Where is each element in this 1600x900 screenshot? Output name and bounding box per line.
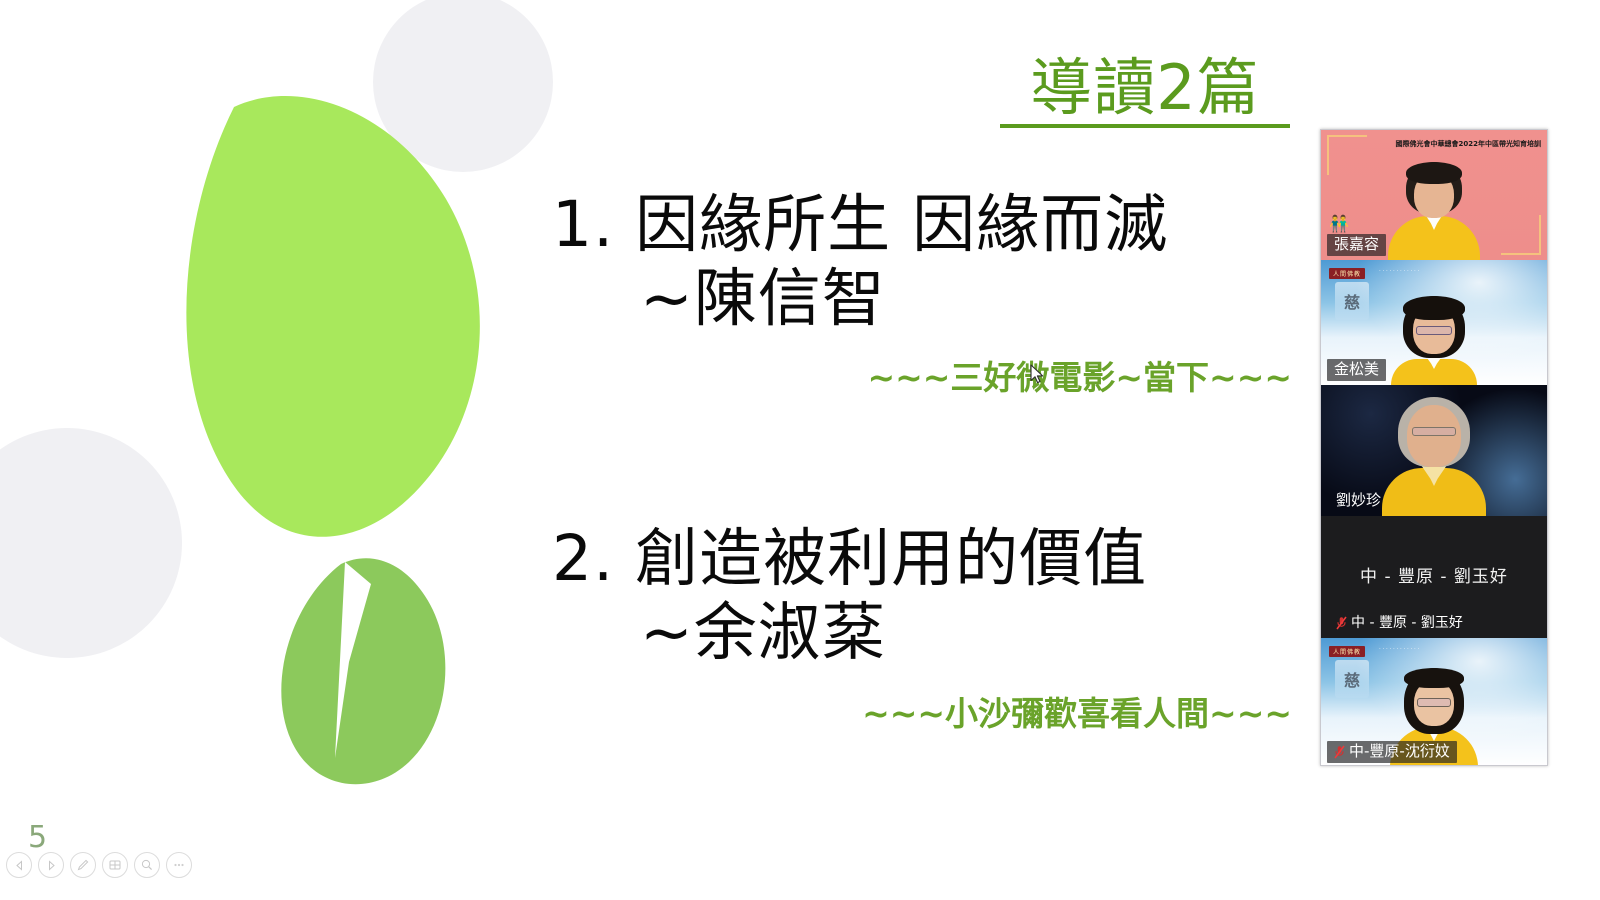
video-tile-camera-off[interactable]: 中 - 豐原 - 劉玉好 中 - 豐原 - 劉玉好 xyxy=(1321,516,1547,638)
participant-name: 中 - 豐原 - 劉玉好 xyxy=(1351,615,1463,633)
muted-microphone-icon xyxy=(1336,616,1347,630)
large-leaf-graphic xyxy=(170,95,500,545)
participant-name-label: 張嘉容 xyxy=(1327,234,1386,256)
previous-slide-button[interactable] xyxy=(6,852,32,878)
muted-microphone-icon xyxy=(1334,745,1345,759)
next-slide-button[interactable] xyxy=(38,852,64,878)
participant-name-label: 劉妙珍 xyxy=(1329,490,1388,512)
participant-name: 劉妙珍 xyxy=(1336,491,1381,510)
participant-name-label: 中 - 豐原 - 劉玉好 xyxy=(1329,614,1470,635)
zoom-magnifier-button[interactable] xyxy=(134,852,160,878)
item-author: ~陳信智 xyxy=(552,262,1292,336)
participant-name: 張嘉容 xyxy=(1334,235,1379,254)
small-leaf-graphic xyxy=(275,558,455,788)
item-title: 因緣所生 因緣而滅 xyxy=(635,188,1168,261)
participant-name-label: 金松美 xyxy=(1327,359,1386,381)
item-author: ~余淑棻 xyxy=(552,596,1292,670)
item-number: 2. xyxy=(552,522,614,595)
item-main-line: 2. 創造被利用的價值 xyxy=(552,522,1292,596)
arrow-cursor-icon xyxy=(1030,364,1046,391)
decorative-sticker-icon: 👬 xyxy=(1329,214,1349,234)
page-number: 5 xyxy=(28,820,47,855)
annotate-pen-button[interactable] xyxy=(70,852,96,878)
item-number: 1. xyxy=(552,188,614,261)
slide-grid-button[interactable] xyxy=(102,852,128,878)
item-subtitle: ~~~小沙彌歡喜看人間~~~ xyxy=(552,687,1292,735)
decorative-circle-top-right xyxy=(373,0,553,172)
item-main-line: 1. 因緣所生 因緣而滅 xyxy=(552,188,1292,262)
participant-name: 中-豐原-沈衍妏 xyxy=(1349,742,1450,761)
presentation-slide: 導讀2篇 1. 因緣所生 因緣而滅 ~陳信智 ~~~三好微電影~當下~~~ 2.… xyxy=(0,0,1600,900)
video-participant-panel[interactable]: 國際佛光會中華總會2022年中區帶光知育培訓 👬 張嘉容 人間佛教 · · · … xyxy=(1320,129,1548,766)
video-tile-active-speaker[interactable]: 人間佛教 · · · · · · · · · · · · 慈 金松美 xyxy=(1321,260,1547,385)
participant-name-label: 中-豐原-沈衍妏 xyxy=(1327,741,1457,763)
slideshow-toolbar[interactable] xyxy=(6,852,192,878)
video-tile[interactable]: 國際佛光會中華總會2022年中區帶光知育培訓 👬 張嘉容 xyxy=(1321,130,1547,260)
participant-placeholder-name: 中 - 豐原 - 劉玉好 xyxy=(1321,562,1547,587)
list-item: 2. 創造被利用的價值 ~余淑棻 ~~~小沙彌歡喜看人間~~~ xyxy=(552,522,1292,735)
video-tile[interactable]: 人間佛教 · · · · · · · · · · · · 慈 xyxy=(1321,638,1547,766)
item-title: 創造被利用的價值 xyxy=(635,522,1147,595)
participant-name: 金松美 xyxy=(1334,360,1379,379)
page-title: 導讀2篇 xyxy=(1000,55,1290,128)
decorative-circle-bottom-left xyxy=(0,428,182,658)
list-item: 1. 因緣所生 因緣而滅 ~陳信智 ~~~三好微電影~當下~~~ xyxy=(552,188,1292,399)
more-options-button[interactable] xyxy=(166,852,192,878)
item-subtitle: ~~~三好微電影~當下~~~ xyxy=(552,351,1292,399)
video-tile[interactable]: 劉妙珍 xyxy=(1321,385,1547,516)
